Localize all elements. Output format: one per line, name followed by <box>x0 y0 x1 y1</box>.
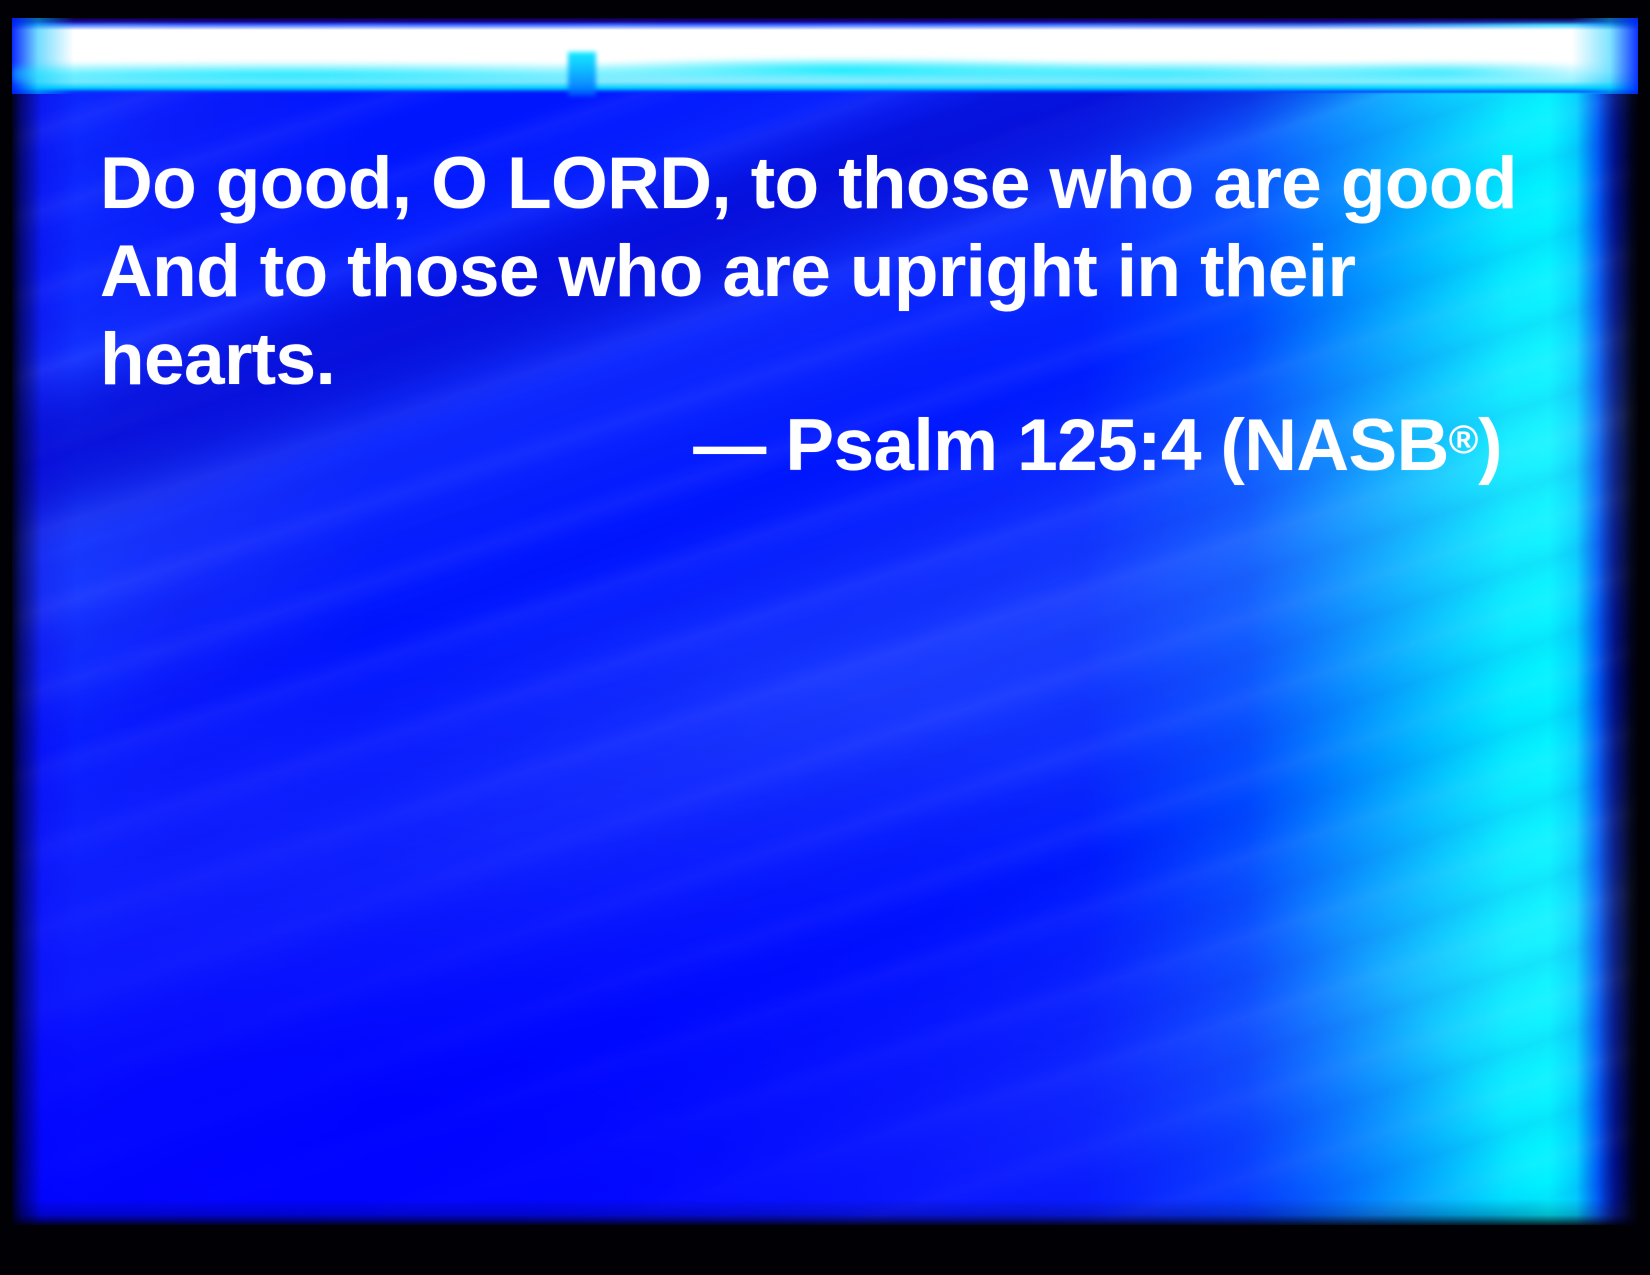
attribution-spacer-2 <box>1201 405 1221 486</box>
top-band-center-notch <box>568 52 596 96</box>
verse-slide: Do good, O LORD, to those who are good A… <box>0 0 1650 1275</box>
verse-line-3: hearts. <box>100 316 1520 404</box>
attribution-spacer-1 <box>766 405 786 486</box>
attribution-translation-open: (NASB <box>1221 405 1449 486</box>
verse-line-1: Do good, O LORD, to those who are good <box>100 140 1520 228</box>
top-band-cyan-wisps <box>12 58 1638 88</box>
registered-trademark-icon: ® <box>1449 417 1479 462</box>
attribution-reference: Psalm 125:4 <box>785 405 1200 486</box>
attribution-em-dash: — <box>693 405 765 486</box>
attribution-translation-close: ) <box>1478 405 1502 486</box>
verse-text-block: Do good, O LORD, to those who are good A… <box>100 140 1520 404</box>
verse-attribution: — Psalm 125:4 (NASB®) <box>100 396 1502 490</box>
background-artwork: Do good, O LORD, to those who are good A… <box>12 18 1638 1225</box>
verse-line-2: And to those who are upright in their <box>100 228 1520 316</box>
